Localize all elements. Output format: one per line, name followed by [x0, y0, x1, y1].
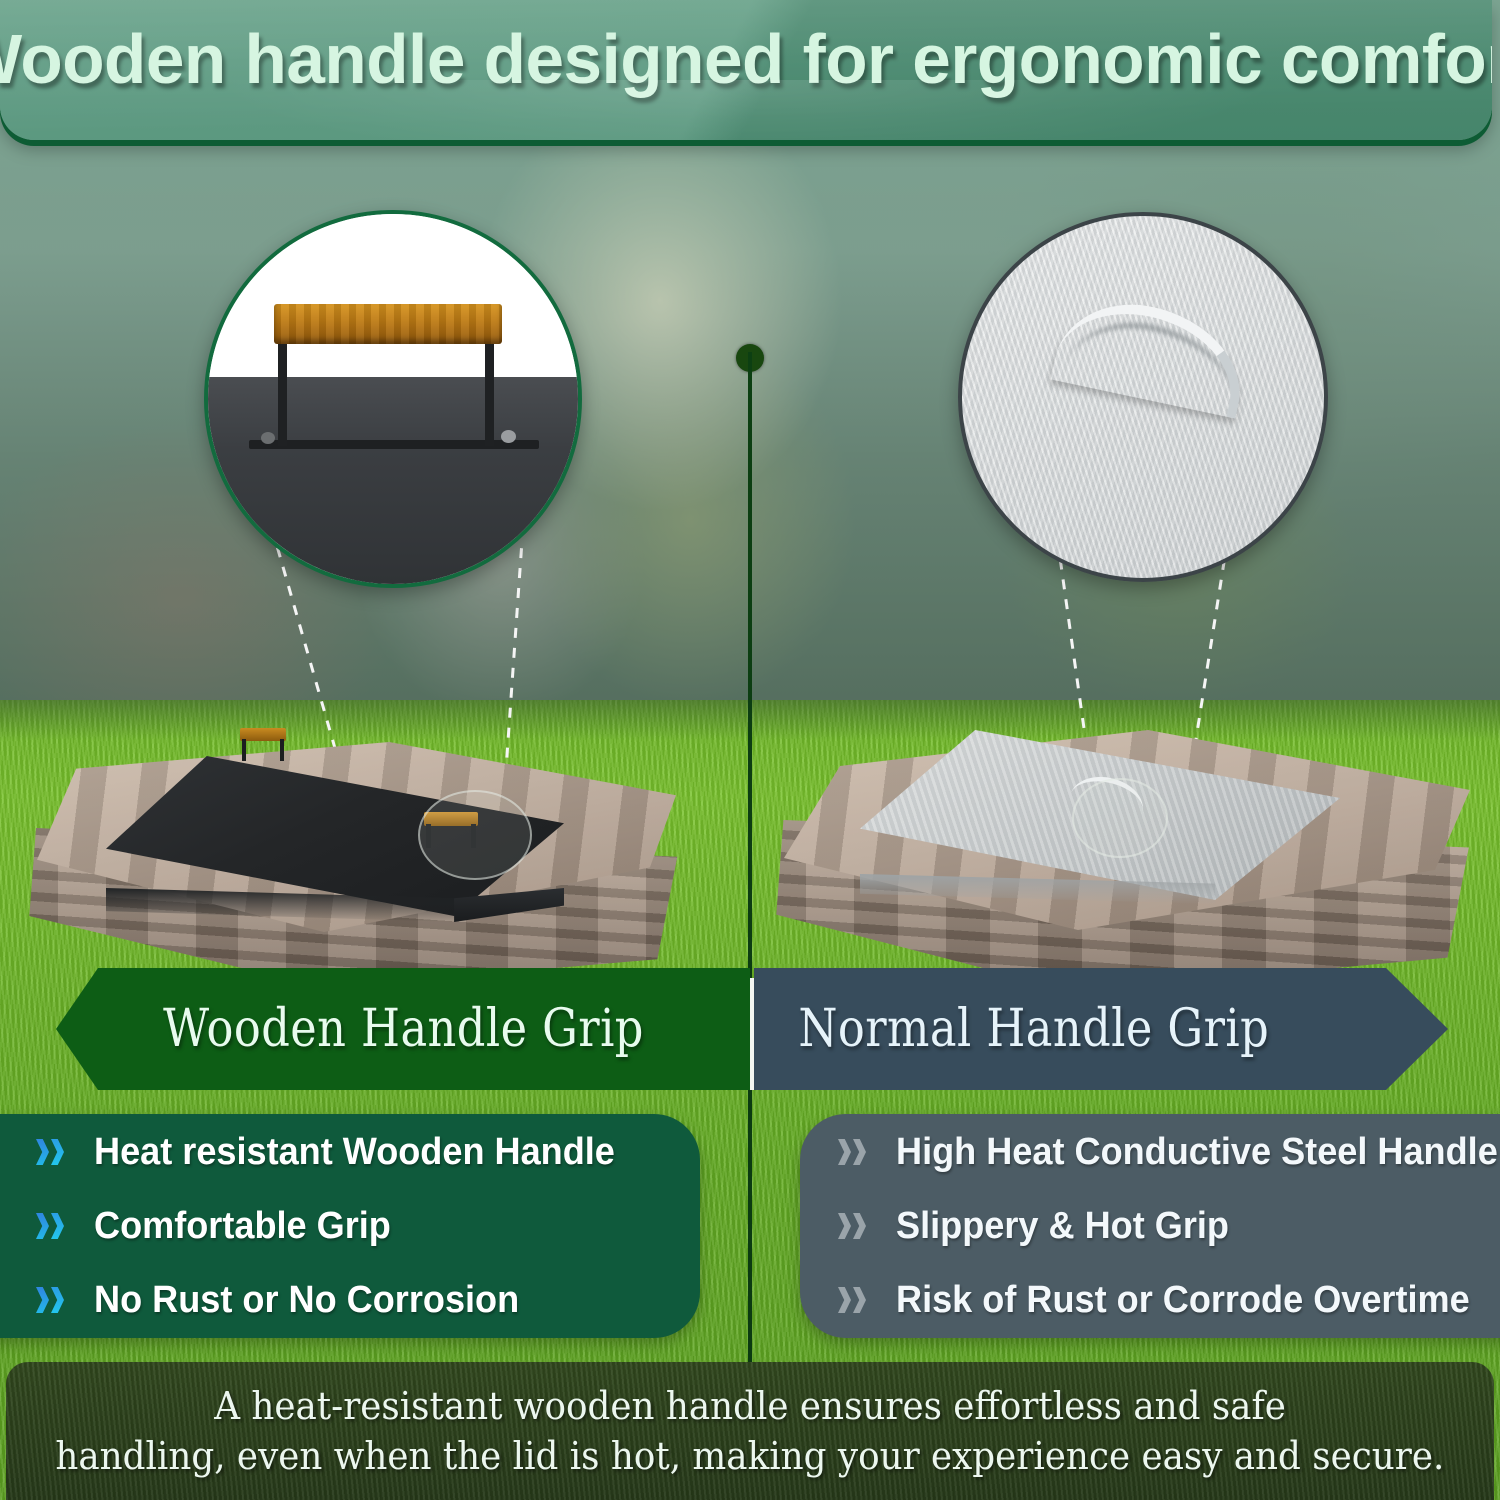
closeup-background: [208, 214, 578, 377]
handle-post-left-icon: [278, 342, 287, 446]
header-banner: Wooden handle designed for ergonomic com…: [0, 0, 1492, 140]
right-label-banner: Normal Handle Grip: [754, 968, 1448, 1090]
list-item: Risk of Rust or Corrode Overtime: [838, 1263, 1500, 1337]
magnifier-wooden-handle: [204, 210, 582, 588]
screw-left-icon: [261, 432, 275, 444]
double-chevron-icon: [838, 1283, 874, 1317]
closeup-lid-surface: [208, 377, 578, 584]
list-item: Heat resistant Wooden Handle: [36, 1115, 700, 1189]
feature-label: No Rust or No Corrosion: [94, 1279, 519, 1322]
feature-label: Heat resistant Wooden Handle: [94, 1131, 615, 1174]
feature-label: Slippery & Hot Grip: [896, 1205, 1229, 1248]
right-highlight-ring: [1072, 778, 1168, 858]
wooden-handle-far-icon: [240, 728, 292, 758]
feature-label: Comfortable Grip: [94, 1205, 391, 1248]
double-chevron-icon: [36, 1283, 72, 1317]
caption-line-2: handling, even when the lid is hot, maki…: [56, 1434, 1445, 1478]
double-chevron-icon: [838, 1135, 874, 1169]
list-item: Comfortable Grip: [36, 1189, 700, 1263]
double-chevron-icon: [838, 1209, 874, 1243]
left-label-banner: Wooden Handle Grip: [56, 968, 750, 1090]
double-chevron-icon: [36, 1135, 72, 1169]
list-item: High Heat Conductive Steel Handle: [838, 1115, 1500, 1189]
right-feature-box: High Heat Conductive Steel Handle Slippe…: [800, 1114, 1500, 1338]
center-divider: [748, 352, 752, 1362]
handle-post-right-icon: [485, 342, 494, 446]
feature-label: Risk of Rust or Corrode Overtime: [896, 1279, 1470, 1322]
list-item: Slippery & Hot Grip: [838, 1189, 1500, 1263]
infographic-page: Wooden handle designed for ergonomic com…: [0, 0, 1500, 1500]
double-chevron-icon: [36, 1209, 72, 1243]
right-label-text: Normal Handle Grip: [798, 999, 1269, 1059]
handle-base-bracket-icon: [249, 440, 539, 449]
magnifier-steel-handle: [958, 212, 1328, 582]
wooden-handle-icon: [274, 304, 502, 344]
steel-pull-handle-icon: [1051, 289, 1255, 418]
screw-right-icon: [501, 430, 516, 443]
bottom-caption: A heat-resistant wooden handle ensures e…: [6, 1362, 1494, 1500]
left-label-text: Wooden Handle Grip: [163, 999, 644, 1059]
caption-line-1: A heat-resistant wooden handle ensures e…: [214, 1384, 1286, 1428]
left-highlight-ring: [418, 790, 532, 880]
list-item: No Rust or No Corrosion: [36, 1263, 700, 1337]
left-feature-box: Heat resistant Wooden Handle Comfortable…: [0, 1114, 700, 1338]
feature-label: High Heat Conductive Steel Handle: [896, 1131, 1498, 1174]
page-title: Wooden handle designed for ergonomic com…: [7, 0, 1484, 118]
